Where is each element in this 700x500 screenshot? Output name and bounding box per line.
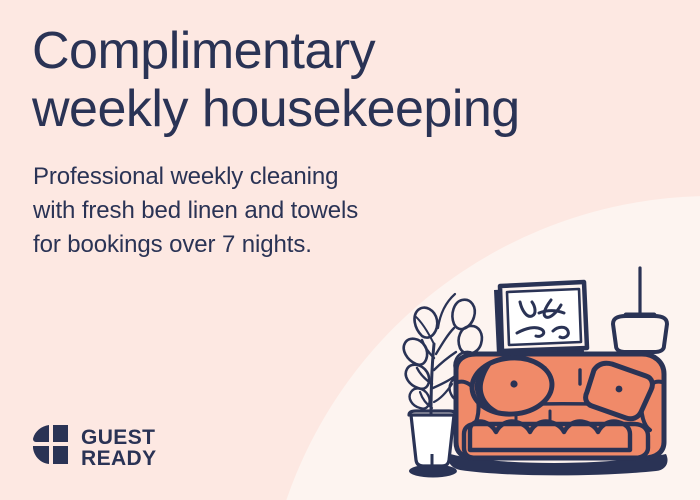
- guest-ready-logo: GUEST READY: [32, 424, 157, 471]
- plant-pot-icon: [409, 411, 457, 478]
- framed-artwork-icon: [494, 282, 587, 355]
- sofa-icon: [448, 354, 667, 475]
- page-title: Complimentary weekly housekeeping: [32, 22, 632, 138]
- logo-wordmark: GUEST READY: [81, 427, 157, 469]
- living-room-illustration: [398, 258, 698, 500]
- promo-description: Professional weekly cleaning with fresh …: [33, 160, 453, 262]
- promo-banner: Complimentary weekly housekeeping Profes…: [0, 0, 700, 500]
- guest-ready-quadrant-mark-icon: [32, 424, 70, 471]
